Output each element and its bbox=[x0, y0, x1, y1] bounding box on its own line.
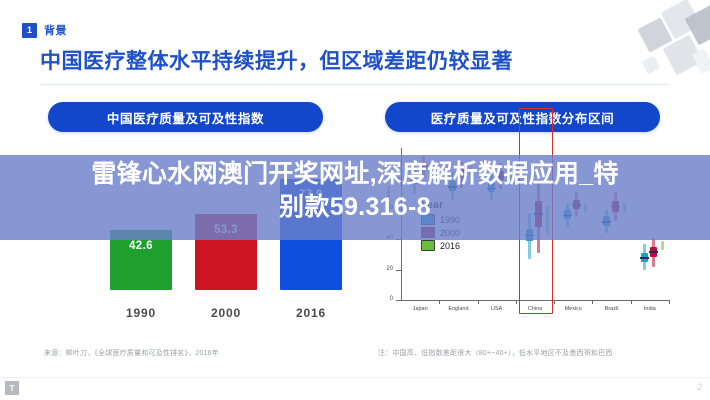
left-panel-title: 中国医疗质量及可及性指数 bbox=[48, 102, 323, 132]
decorative-diamonds bbox=[620, 0, 710, 85]
x-axis-tick bbox=[631, 300, 632, 304]
y-axis-tick-label: 0 bbox=[375, 296, 393, 302]
y-axis-tick-label: 20 bbox=[375, 266, 393, 272]
diamond-shape bbox=[642, 56, 661, 75]
bar-category-label: 2000 bbox=[195, 306, 257, 320]
x-axis-category-label: Mexico bbox=[552, 306, 594, 312]
x-axis-tick bbox=[439, 300, 440, 304]
y-axis-tick bbox=[396, 270, 401, 271]
legend-swatch-icon bbox=[421, 240, 435, 251]
median-line bbox=[640, 257, 649, 259]
section-badge: 1 背景 bbox=[22, 22, 67, 38]
diamond-shape bbox=[661, 0, 702, 39]
x-axis-line bbox=[401, 300, 669, 301]
y-axis-tick bbox=[396, 300, 401, 301]
footer-divider bbox=[0, 377, 710, 378]
x-axis-category-label: Brazil bbox=[591, 306, 633, 312]
footer-logo-icon: T bbox=[5, 381, 19, 395]
whisker bbox=[661, 241, 664, 250]
right-chart-note: 注：中国高、低指数差距很大（80+~40+），低水平地区不及墨西哥和巴西 bbox=[378, 348, 613, 358]
x-axis-category-label: England bbox=[437, 306, 479, 312]
x-axis-tick bbox=[478, 300, 479, 304]
legend-item-label: 2016 bbox=[440, 241, 460, 251]
diamond-shape bbox=[685, 5, 710, 46]
x-axis-category-label: USA bbox=[476, 306, 518, 312]
watermark-line-2: 别款59.316-8 bbox=[0, 191, 710, 224]
page-number: 2 bbox=[697, 382, 702, 392]
left-source-note: 来源：柳叶刀，《全球医疗质量和可及性排名》，2016年 bbox=[44, 348, 219, 358]
x-axis-tick bbox=[592, 300, 593, 304]
diamond-shape bbox=[637, 17, 672, 52]
x-axis-category-label: China bbox=[514, 306, 556, 312]
bar-value-label: 42.6 bbox=[110, 240, 172, 252]
watermark-text: 雷锋心水网澳门开奖网址,深度解析数据应用_特 别款59.316-8 bbox=[0, 158, 710, 224]
x-axis-category-label: India bbox=[629, 306, 671, 312]
x-axis-tick bbox=[516, 300, 517, 304]
legend-item: 2016 bbox=[421, 240, 460, 251]
section-name: 背景 bbox=[44, 22, 67, 38]
x-axis-category-label: Japan bbox=[399, 306, 441, 312]
x-axis-tick bbox=[554, 300, 555, 304]
slide-root: 1 背景 中国医疗整体水平持续提升，但区域差距仍较显著 中国医疗质量及可及性指数… bbox=[0, 0, 710, 400]
header-divider bbox=[40, 84, 670, 85]
watermark-line-1: 雷锋心水网澳门开奖网址,深度解析数据应用_特 bbox=[0, 158, 710, 191]
x-axis-tick bbox=[669, 300, 670, 304]
section-number: 1 bbox=[22, 23, 37, 38]
page-title: 中国医疗整体水平持续提升，但区域差距仍较显著 bbox=[40, 45, 513, 75]
bar-category-label: 2016 bbox=[280, 306, 342, 320]
diamond-shape bbox=[692, 48, 710, 74]
bar-category-label: 1990 bbox=[110, 306, 172, 320]
diamond-shape bbox=[663, 35, 704, 76]
median-line bbox=[649, 251, 658, 253]
right-panel-title: 医疗质量及可及性指数分布区间 bbox=[385, 102, 660, 132]
